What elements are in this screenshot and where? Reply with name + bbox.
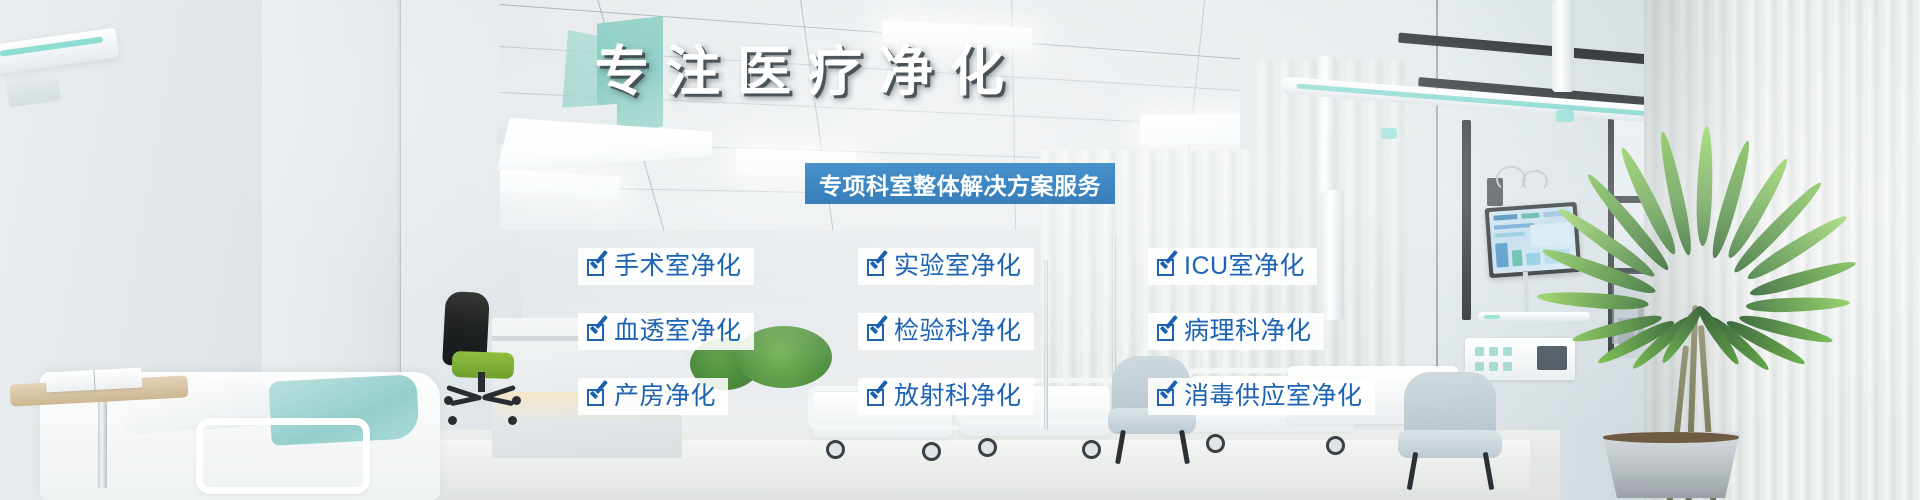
feature-chip[interactable]: 血透室净化 [578, 313, 754, 350]
hero-banner: 专注医疗净化 专项科室整体解决方案服务 手术室净化 血透室净化 产房净化 实验室… [0, 0, 1920, 500]
checkbox-checked-icon[interactable] [587, 257, 607, 277]
feature-chip[interactable]: 病理科净化 [1148, 313, 1324, 350]
feature-label: 手术室净化 [614, 254, 742, 279]
feature-chip[interactable]: 检验科净化 [858, 313, 1034, 350]
checkbox-checked-icon[interactable] [1157, 322, 1177, 342]
feature-chip[interactable]: 消毒供应室净化 [1148, 378, 1375, 415]
checkbox-checked-icon[interactable] [1157, 387, 1177, 407]
feature-list: 手术室净化 血透室净化 产房净化 实验室净化 检验科净化 放射科净化 ICU室净… [0, 0, 1920, 500]
checkbox-checked-icon[interactable] [867, 257, 887, 277]
feature-chip[interactable]: 放射科净化 [858, 378, 1034, 415]
checkbox-checked-icon[interactable] [867, 322, 887, 342]
feature-chip[interactable]: 产房净化 [578, 378, 728, 415]
feature-label: 产房净化 [614, 384, 716, 409]
checkbox-checked-icon[interactable] [867, 387, 887, 407]
feature-chip[interactable]: 实验室净化 [858, 248, 1034, 285]
feature-label: 病理科净化 [1184, 319, 1312, 344]
feature-label: ICU室净化 [1184, 254, 1305, 279]
feature-label: 消毒供应室净化 [1184, 384, 1363, 409]
checkbox-checked-icon[interactable] [587, 322, 607, 342]
feature-label: 实验室净化 [894, 254, 1022, 279]
feature-chip[interactable]: ICU室净化 [1148, 248, 1317, 285]
checkbox-checked-icon[interactable] [587, 387, 607, 407]
feature-label: 放射科净化 [894, 384, 1022, 409]
feature-label: 检验科净化 [894, 319, 1022, 344]
checkbox-checked-icon[interactable] [1157, 257, 1177, 277]
feature-label: 血透室净化 [614, 319, 742, 344]
feature-chip[interactable]: 手术室净化 [578, 248, 754, 285]
